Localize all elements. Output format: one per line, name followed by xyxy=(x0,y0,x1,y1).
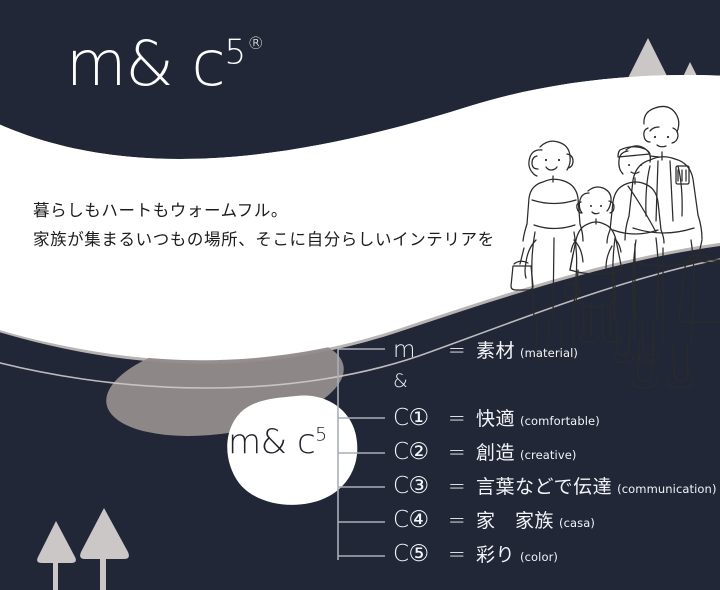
legend-term-en: (creative) xyxy=(520,448,576,462)
legend-term-en: (comfortable) xyxy=(520,414,600,428)
blob-logo-exponent: 5 xyxy=(315,424,327,446)
legend-row: & xyxy=(393,370,720,404)
legend-equals: = xyxy=(448,440,476,464)
legend-term-en: (communication) xyxy=(617,482,716,496)
brand-logo-text: m& c xyxy=(66,27,225,100)
tagline-line-1: 暮らしもハートもウォームフル。 xyxy=(33,196,495,225)
legend-row: C① = 快適 (comfortable) xyxy=(393,404,720,438)
legend-equals: = xyxy=(448,508,476,532)
legend-term-en: (casa) xyxy=(559,516,595,530)
legend-key: m xyxy=(393,337,448,363)
legend-equals: = xyxy=(448,338,476,362)
legend-equals: = xyxy=(448,474,476,498)
legend-term-en: (color) xyxy=(520,550,558,564)
registered-trademark-icon: ® xyxy=(247,34,264,54)
legend-key: C③ xyxy=(393,473,448,499)
blob-logo: m& c5 xyxy=(228,425,327,459)
legend-term-jp: 快適 xyxy=(476,404,515,431)
brand-logo: m& c5® xyxy=(66,33,263,95)
legend-key: C④ xyxy=(393,507,448,533)
legend-equals: = xyxy=(448,542,476,566)
legend-row: C④ = 家 家族 (casa) xyxy=(393,506,720,540)
tagline-line-2: 家族が集まるいつもの場所、そこに自分らしいインテリアを xyxy=(33,225,495,254)
legend-key: C⑤ xyxy=(393,541,448,567)
brand-hero-banner: m& c5® 暮らしもハートもウォームフル。 家族が集まるいつもの場所、そこに自… xyxy=(0,0,720,590)
legend-key: & xyxy=(393,370,448,392)
legend-list: m = 素材 (material) & C① = 快適 (comfortable… xyxy=(393,336,720,574)
legend-row: C⑤ = 彩り (color) xyxy=(393,540,720,574)
legend-term-jp: 創造 xyxy=(476,438,515,465)
legend-term-jp: 言葉などで伝達 xyxy=(476,472,612,499)
legend-row: m = 素材 (material) xyxy=(393,336,720,370)
legend-term-jp: 家 家族 xyxy=(476,506,554,533)
legend-key: C① xyxy=(393,405,448,431)
legend-term-jp: 素材 xyxy=(476,336,515,363)
tagline: 暮らしもハートもウォームフル。 家族が集まるいつもの場所、そこに自分らしいインテ… xyxy=(33,196,495,254)
legend-row: C② = 創造 (creative) xyxy=(393,438,720,472)
legend-term-en: (material) xyxy=(520,346,578,360)
blob-logo-text: m& c xyxy=(228,422,315,462)
legend-term-jp: 彩り xyxy=(476,540,515,567)
brand-logo-exponent: 5 xyxy=(225,32,247,72)
legend-equals: = xyxy=(448,406,476,430)
legend-row: C③ = 言葉などで伝達 (communication) xyxy=(393,472,720,506)
legend-key: C② xyxy=(393,439,448,465)
